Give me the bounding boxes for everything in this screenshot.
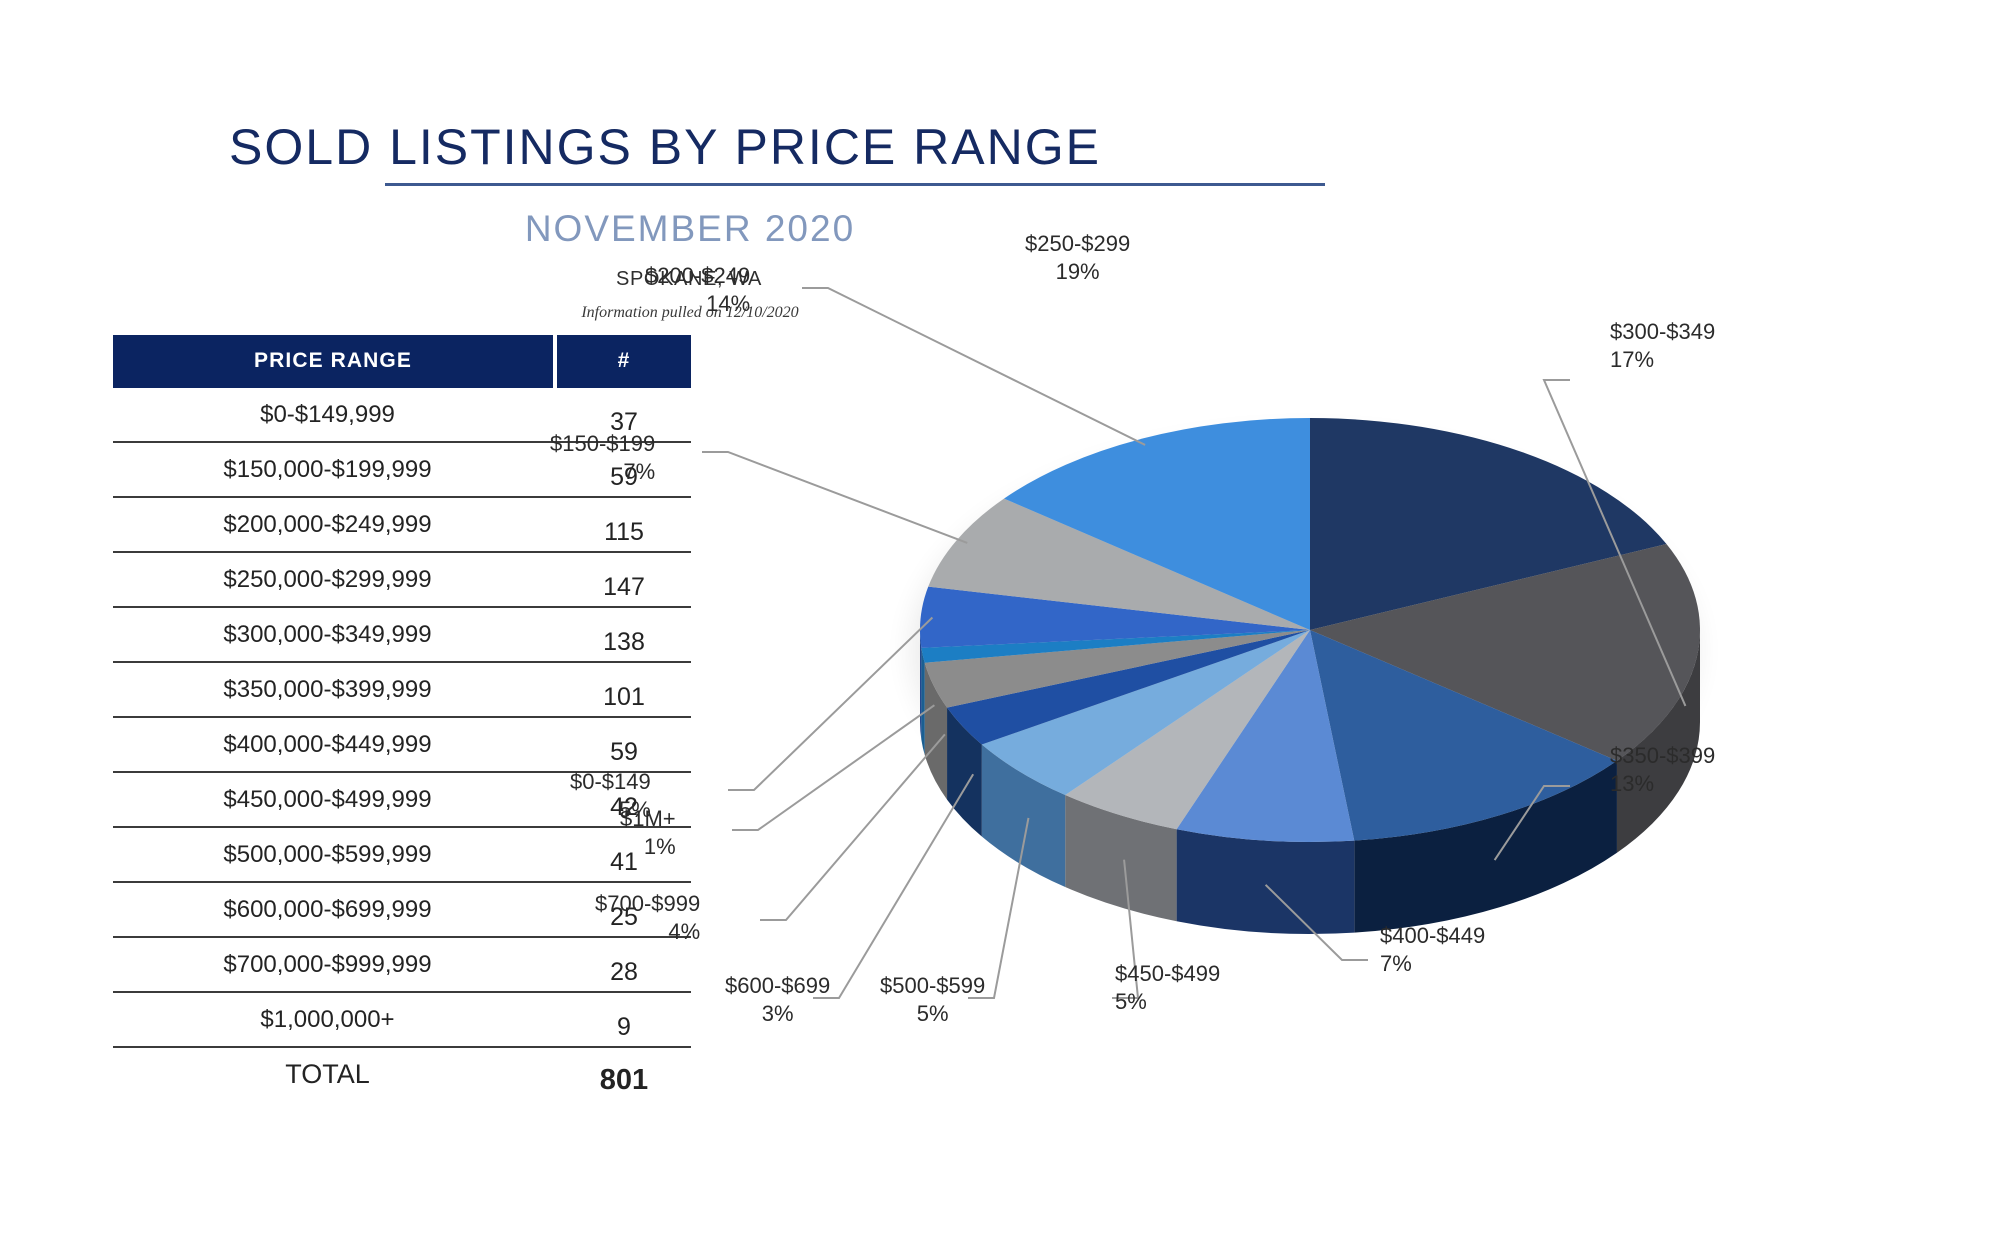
- table-header-row: PRICE RANGE #: [113, 335, 691, 388]
- pie-label-name: $450-$499: [1115, 961, 1220, 986]
- pie-label-name: $350-$399: [1610, 743, 1715, 768]
- cell-count: 147: [557, 553, 691, 608]
- pie-label-percent: 1%: [620, 833, 676, 861]
- pie-leader-line: [802, 288, 1145, 445]
- pie-label-percent: 5%: [880, 1000, 985, 1028]
- cell-price-range: $350,000-$399,999: [113, 663, 557, 718]
- pie-label-450-499: $450-$4995%: [1115, 960, 1220, 1016]
- cell-total-count: 801: [557, 1048, 691, 1101]
- pie-label-name: $700-$999: [595, 891, 700, 916]
- pie-chart: $250-$29919%$300-$34917%$350-$39913%$400…: [820, 230, 2000, 1250]
- pie-slice-side: [1177, 829, 1355, 934]
- cell-price-range: $150,000-$199,999: [113, 443, 557, 498]
- pie-label-percent: 3%: [725, 1000, 830, 1028]
- pie-label-name: $200-$249: [645, 263, 750, 288]
- pie-leader-line: [813, 774, 973, 998]
- table-body: $0-$149,99937$150,000-$199,99959$200,000…: [113, 388, 691, 1101]
- column-header-count: #: [557, 335, 691, 388]
- pie-label-percent: 14%: [645, 290, 750, 318]
- pie-label-name: $600-$699: [725, 973, 830, 998]
- pie-label-name: $400-$449: [1380, 923, 1485, 948]
- pie-label-300-349: $300-$34917%: [1610, 318, 1715, 374]
- pie-label-percent: 17%: [1610, 346, 1715, 374]
- cell-price-range: $600,000-$699,999: [113, 883, 557, 938]
- cell-count: 138: [557, 608, 691, 663]
- cell-price-range: $300,000-$349,999: [113, 608, 557, 663]
- table-row: $250,000-$299,999147: [113, 553, 691, 608]
- pie-label-700-999: $700-$9994%: [595, 890, 700, 946]
- cell-price-range: $200,000-$249,999: [113, 498, 557, 553]
- pie-label-percent: 5%: [1115, 988, 1220, 1016]
- pie-label-percent: 5%: [570, 796, 651, 824]
- pie-label-name: $500-$599: [880, 973, 985, 998]
- pie-label-percent: 4%: [595, 918, 700, 946]
- pie-label-600-699: $600-$6993%: [725, 972, 830, 1028]
- pie-label-250-299: $250-$29919%: [1025, 230, 1130, 286]
- table-row: $1,000,000+9: [113, 993, 691, 1048]
- pie-label-0-149: $0-$1495%: [570, 768, 651, 824]
- pie-label-percent: 19%: [1025, 258, 1130, 286]
- pie-slice-side: [920, 630, 921, 740]
- cell-price-range: $450,000-$499,999: [113, 773, 557, 828]
- pie-label-400-449: $400-$4497%: [1380, 922, 1485, 978]
- table-row: $400,000-$449,99959: [113, 718, 691, 773]
- cell-count: 101: [557, 663, 691, 718]
- cell-price-range: $400,000-$449,999: [113, 718, 557, 773]
- pie-label-percent: 13%: [1610, 770, 1715, 798]
- cell-price-range: $250,000-$299,999: [113, 553, 557, 608]
- pie-leader-line: [702, 452, 967, 543]
- pie-label-name: $250-$299: [1025, 231, 1130, 256]
- cell-count: 59: [557, 718, 691, 773]
- pie-leader-line: [728, 618, 932, 790]
- pie-label-percent: 7%: [550, 458, 655, 486]
- pie-top-faces: [920, 418, 1700, 842]
- pie-chart-svg: [820, 230, 2000, 1250]
- column-header-price-range: PRICE RANGE: [113, 335, 557, 388]
- cell-price-range: $1,000,000+: [113, 993, 557, 1048]
- cell-price-range: $500,000-$599,999: [113, 828, 557, 883]
- cell-count: 115: [557, 498, 691, 553]
- cell-count: 9: [557, 993, 691, 1048]
- pie-label-350-399: $350-$39913%: [1610, 742, 1715, 798]
- table-row: $300,000-$349,999138: [113, 608, 691, 663]
- pie-label-name: $0-$149: [570, 769, 651, 794]
- cell-total-label: TOTAL: [113, 1048, 557, 1101]
- pie-slice-side: [921, 648, 924, 755]
- pie-label-200-249: $200-$24914%: [645, 262, 750, 318]
- table-total-row: TOTAL801: [113, 1048, 691, 1101]
- cell-price-range: $0-$149,999: [113, 388, 557, 443]
- pie-label-name: $150-$199: [550, 431, 655, 456]
- pie-leader-line: [732, 705, 934, 830]
- table-row: $200,000-$249,999115: [113, 498, 691, 553]
- table-row: $500,000-$599,99941: [113, 828, 691, 883]
- page-title: SOLD LISTINGS BY PRICE RANGE: [0, 118, 1330, 176]
- table-row: $350,000-$399,999101: [113, 663, 691, 718]
- pie-label-name: $300-$349: [1610, 319, 1715, 344]
- cell-price-range: $700,000-$999,999: [113, 938, 557, 993]
- pie-label-500-599: $500-$5995%: [880, 972, 985, 1028]
- title-underline: [385, 183, 1325, 186]
- pie-label-percent: 7%: [1380, 950, 1485, 978]
- pie-label-150-199: $150-$1997%: [550, 430, 655, 486]
